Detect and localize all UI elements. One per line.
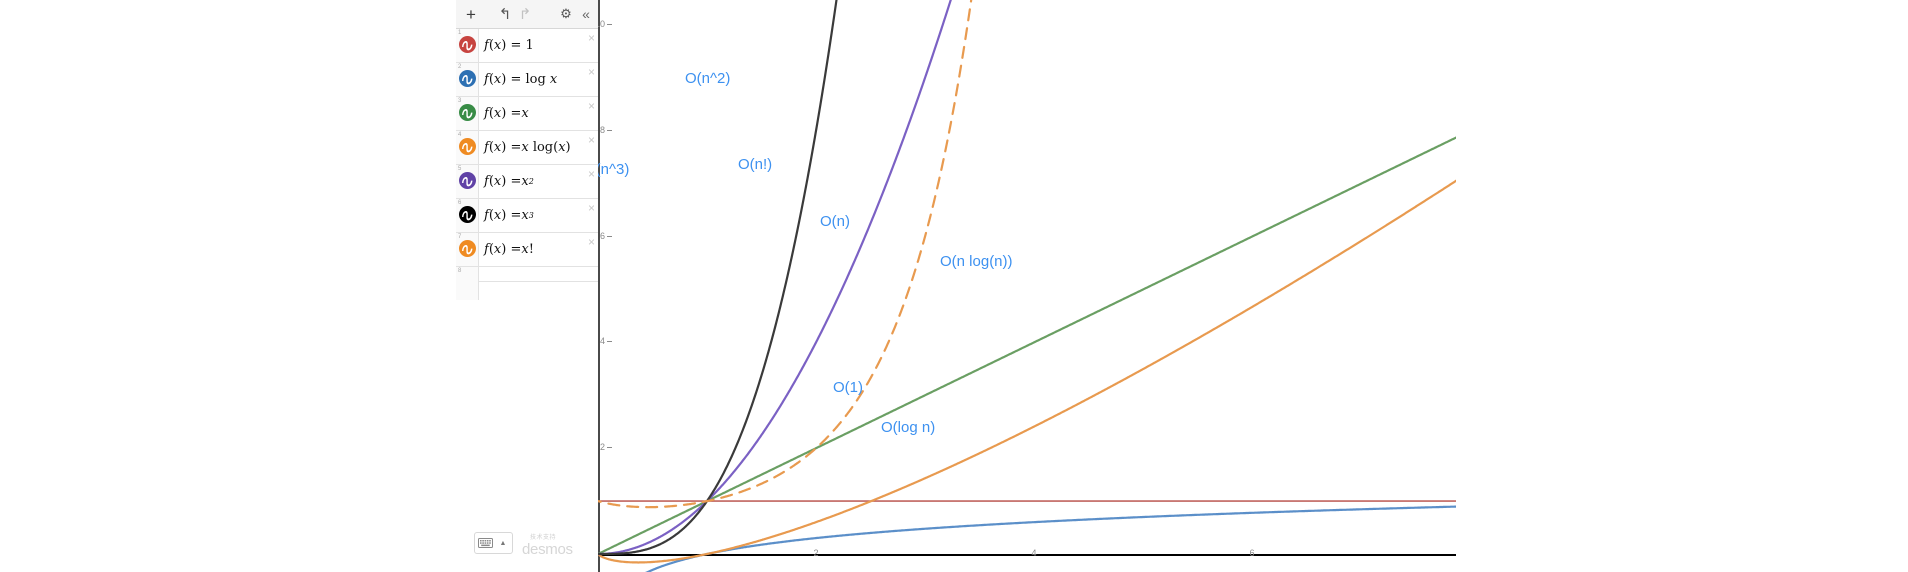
delete-expression-icon[interactable]: ×	[588, 134, 595, 146]
curve-label-o-1-: O(1)	[833, 379, 863, 396]
expression-color-icon[interactable]	[459, 240, 476, 257]
expression-index: 1	[458, 29, 461, 37]
expression-panel: + ↰ ↱ ⚙ « 1f(x) = 1×2f(x) = log x×3f(x) …	[456, 0, 598, 572]
expression-color-icon[interactable]	[459, 104, 476, 121]
expression-index: 5	[458, 165, 461, 173]
expression-formula[interactable]: f(x) = log x	[484, 63, 557, 96]
expression-list: 1f(x) = 1×2f(x) = log x×3f(x) = x×4f(x) …	[456, 29, 598, 293]
collapse-panel-icon[interactable]: «	[576, 0, 596, 28]
expression-formula[interactable]: f(x) = x log(x)	[484, 131, 571, 164]
desmos-brand: 技术支持 desmos	[522, 534, 592, 558]
expression-index-cell: 4	[456, 131, 479, 164]
expression-index-cell: 1	[456, 29, 479, 62]
curve-label-o-log-n-: O(log n)	[881, 419, 935, 436]
expression-color-icon[interactable]	[459, 206, 476, 223]
expression-formula[interactable]: f(x) = x3	[484, 199, 534, 232]
expression-row[interactable]: 6f(x) = x3×	[456, 199, 598, 233]
expression-formula[interactable]: f(x) = x2	[484, 165, 534, 198]
curve-label-o-n-2-: O(n^2)	[685, 70, 730, 87]
expression-index: 3	[458, 97, 461, 105]
expression-index-cell: 8	[456, 267, 479, 300]
expression-row[interactable]: 7f(x) = x!×	[456, 233, 598, 267]
expression-toolbar: + ↰ ↱ ⚙ «	[456, 0, 598, 29]
expression-color-icon[interactable]	[459, 70, 476, 87]
delete-expression-icon[interactable]: ×	[588, 32, 595, 44]
expression-row[interactable]: 4f(x) = x log(x)×	[456, 131, 598, 165]
curve-label-o-n-: O(n)	[820, 213, 850, 230]
delete-expression-icon[interactable]: ×	[588, 168, 595, 180]
graph-canvas[interactable]: 246810 2468 O(n^2)O(n^3)O(n!)O(n)O(n log…	[598, 0, 1456, 572]
expression-index: 8	[458, 267, 461, 275]
expression-color-icon[interactable]	[459, 172, 476, 189]
add-expression-icon[interactable]: +	[458, 0, 484, 28]
expression-row[interactable]: 3f(x) = x×	[456, 97, 598, 131]
expression-index: 4	[458, 131, 461, 139]
expression-formula[interactable]: f(x) = x!	[484, 233, 534, 266]
curve-o-n-	[598, 133, 1456, 572]
expression-index-cell: 6	[456, 199, 479, 232]
keyboard-icon	[475, 538, 496, 548]
expression-row[interactable]: 5f(x) = x2×	[456, 165, 598, 199]
gear-icon[interactable]: ⚙	[556, 0, 576, 28]
caret-up-icon: ▲	[496, 540, 510, 547]
undo-icon[interactable]: ↰	[494, 0, 516, 28]
expression-row-empty[interactable]: 8	[456, 267, 598, 282]
curve-o-n-log-n-	[599, 174, 1456, 562]
expression-index-cell: 2	[456, 63, 479, 96]
delete-expression-icon[interactable]: ×	[588, 236, 595, 248]
delete-expression-icon[interactable]: ×	[588, 202, 595, 214]
panel-footer: ▲ 技术支持 desmos	[456, 512, 598, 572]
delete-expression-icon[interactable]: ×	[588, 100, 595, 112]
curve-label-o-n-3-: O(n^3)	[598, 161, 629, 178]
curve-label-o-n-log-n-: O(n log(n))	[940, 253, 1013, 270]
screen: + ↰ ↱ ⚙ « 1f(x) = 1×2f(x) = log x×3f(x) …	[0, 0, 1908, 572]
expression-color-icon[interactable]	[459, 36, 476, 53]
expression-index-cell: 7	[456, 233, 479, 266]
brand-name: desmos	[522, 542, 592, 558]
expression-index: 2	[458, 63, 461, 71]
expression-color-icon[interactable]	[459, 138, 476, 155]
expression-row[interactable]: 1f(x) = 1×	[456, 29, 598, 63]
redo-icon[interactable]: ↱	[514, 0, 536, 28]
curve-label-o-n-: O(n!)	[738, 156, 772, 173]
delete-expression-icon[interactable]: ×	[588, 66, 595, 78]
curve-o-n-2-	[598, 0, 987, 554]
expression-index-cell: 3	[456, 97, 479, 130]
expression-index: 7	[458, 233, 461, 241]
expression-row[interactable]: 2f(x) = log x×	[456, 63, 598, 97]
desmos-calculator: + ↰ ↱ ⚙ « 1f(x) = 1×2f(x) = log x×3f(x) …	[456, 0, 1456, 572]
expression-index: 6	[458, 199, 461, 207]
keyboard-toggle-button[interactable]: ▲	[474, 532, 513, 554]
expression-index-cell: 5	[456, 165, 479, 198]
expression-formula[interactable]: f(x) = 1	[484, 29, 534, 62]
expression-formula[interactable]: f(x) = x	[484, 97, 529, 130]
curve-o-log-n-	[599, 506, 1456, 572]
